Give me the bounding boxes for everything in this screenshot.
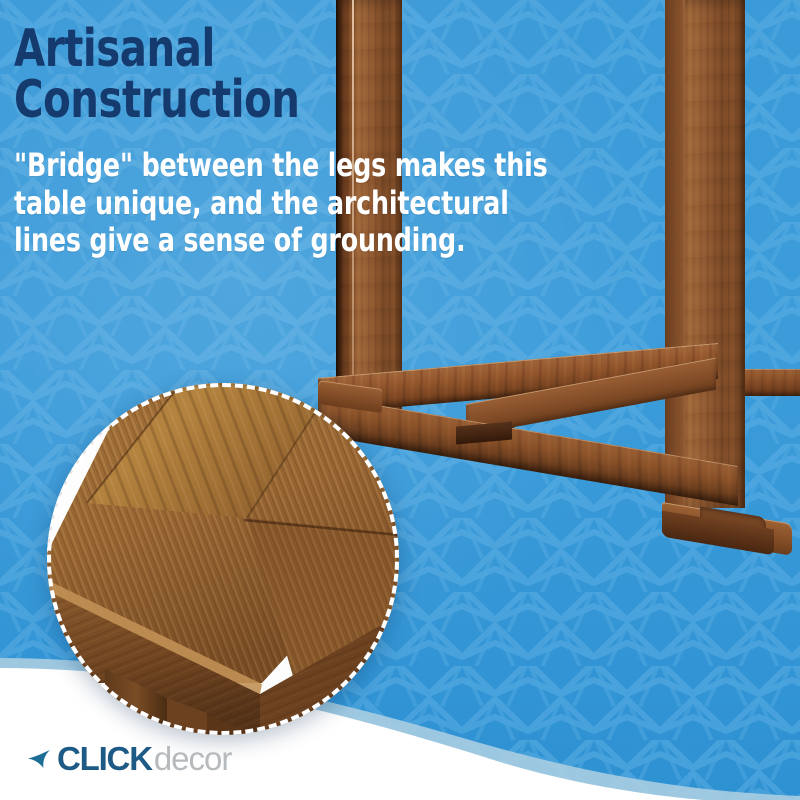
marketing-image-canvas: Artisanal Construction "Bridge" between …	[0, 0, 800, 800]
copy-block: Artisanal Construction "Bridge" between …	[14, 24, 654, 260]
side-stretcher-right	[740, 369, 800, 396]
brand-logo[interactable]: CLICK decor	[26, 740, 231, 778]
detail-wood-corner-image	[47, 383, 399, 735]
right-leg-inner-face	[665, 0, 685, 510]
page-title: Artisanal Construction	[14, 24, 564, 126]
logo-text-primary: CLICK	[57, 740, 152, 778]
detail-circle-callout[interactable]	[47, 383, 399, 735]
logo-text-secondary: decor	[154, 740, 232, 778]
left-arrow-chevron-mark-icon	[26, 746, 52, 772]
body-description: "Bridge" between the legs makes this tab…	[14, 147, 577, 260]
